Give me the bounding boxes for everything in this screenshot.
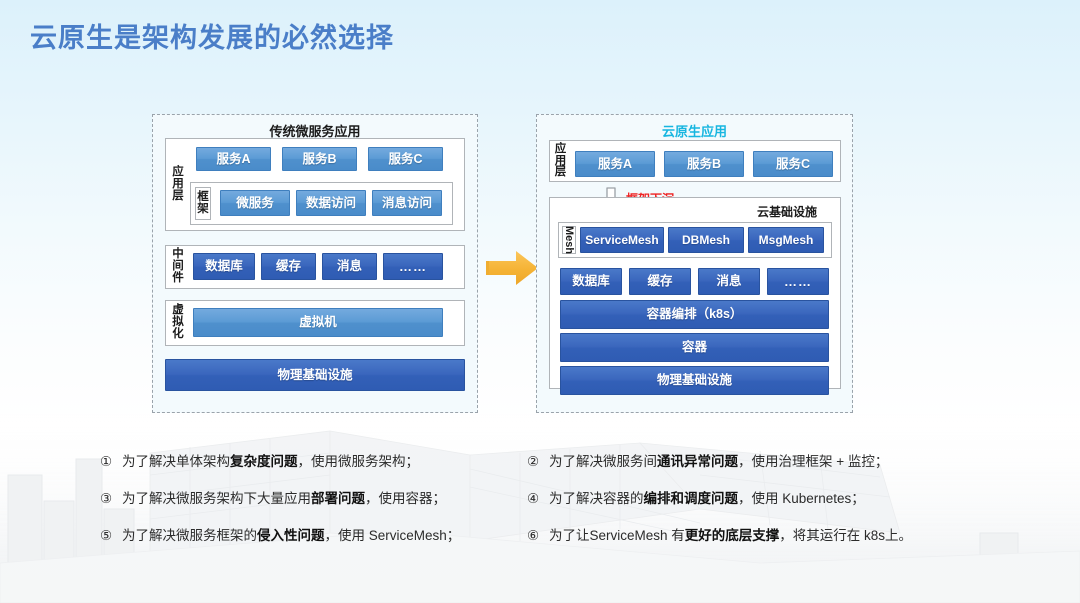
bullet-text-post: ，使用 Kubernetes；	[738, 491, 865, 506]
bullet-number: ③	[100, 491, 122, 507]
left-middleware-more[interactable]: ……	[383, 253, 443, 280]
bullet-number: ④	[527, 491, 549, 507]
right-app-layer-label: 应 用 层	[553, 145, 568, 178]
bullet-item: ④ 为了解决容器的编排和调度问题，使用 Kubernetes；	[527, 487, 987, 507]
left-service-c[interactable]: 服务C	[368, 147, 443, 171]
bullet-text-post: ，使用微服务架构；	[298, 454, 420, 469]
msg-mesh-block[interactable]: MsgMesh	[748, 227, 824, 253]
bullet-text-pre: 为了解决微服务架构下大量应用	[122, 491, 311, 506]
left-virtualization-label-char-3: 化	[172, 329, 184, 341]
right-physical-infrastructure[interactable]: 物理基础设施	[560, 366, 829, 395]
bullet-text: 为了解决容器的编排和调度问题，使用 Kubernetes；	[549, 487, 865, 507]
page-title: 云原生是架构发展的必然选择	[30, 16, 394, 55]
right-service-a[interactable]: 服务A	[575, 151, 655, 177]
left-framework-label-char-1: 框	[197, 192, 209, 204]
bullet-text-pre: 为了解决微服务间	[549, 454, 657, 469]
left-framework-message-access[interactable]: 消息访问	[372, 190, 442, 216]
left-virtual-machine[interactable]: 虚拟机	[193, 308, 443, 337]
bullet-text: 为了解决微服务间通讯异常问题，使用治理框架 + 监控；	[549, 450, 888, 470]
cloud-infra-label: 云基础设施	[757, 203, 817, 220]
bullet-item: ⑥ 为了让ServiceMesh 有更好的底层支撑，将其运行在 k8s上。	[527, 524, 987, 544]
bullet-text-bold: 通讯异常问题	[657, 454, 738, 469]
left-app-layer-label-char-3: 层	[172, 191, 184, 203]
bullet-text-bold: 部署问题	[311, 491, 365, 506]
right-middleware-message[interactable]: 消息	[698, 268, 760, 295]
bullet-number: ①	[100, 454, 122, 470]
bullet-text-post: ，将其运行在 k8s上。	[779, 528, 912, 543]
bullet-text-bold: 复杂度问题	[230, 454, 298, 469]
right-middleware-database[interactable]: 数据库	[560, 268, 622, 295]
bullet-number: ⑤	[100, 528, 122, 544]
bullet-text-pre: 为了解决容器的	[549, 491, 644, 506]
bullet-text-bold: 编排和调度问题	[644, 491, 739, 506]
left-service-b[interactable]: 服务B	[282, 147, 357, 171]
left-framework-microservice[interactable]: 微服务	[220, 190, 290, 216]
bullet-text-pre: 为了解决微服务框架的	[122, 528, 257, 543]
bullet-text-post: ，使用治理框架 + 监控；	[738, 454, 888, 469]
bullet-item: ② 为了解决微服务间通讯异常问题，使用治理框架 + 监控；	[527, 450, 987, 470]
left-middleware-message[interactable]: 消息	[322, 253, 377, 280]
bullet-text-bold: 更好的底层支撑	[685, 528, 780, 543]
bullet-number: ⑥	[527, 528, 549, 544]
bullet-text-post: ，使用容器；	[365, 491, 446, 506]
container-orchestration-k8s[interactable]: 容器编排（k8s）	[560, 300, 829, 329]
left-middleware-cache[interactable]: 缓存	[261, 253, 316, 280]
bullet-text: 为了解决微服务框架的侵入性问题，使用 ServiceMesh；	[122, 524, 460, 544]
right-middleware-cache[interactable]: 缓存	[629, 268, 691, 295]
bullet-number: ②	[527, 454, 549, 470]
right-app-layer-label-char-1: 应	[555, 144, 567, 156]
right-middleware-more[interactable]: ……	[767, 268, 829, 295]
left-framework-label-char-2: 架	[197, 204, 209, 216]
right-panel-title: 云原生应用	[537, 121, 852, 140]
bullet-text-post: ，使用 ServiceMesh；	[325, 528, 461, 543]
left-middleware-label: 中 间 件	[170, 250, 186, 284]
left-middleware-label-char-3: 件	[172, 273, 184, 285]
right-service-c[interactable]: 服务C	[753, 151, 833, 177]
left-service-a[interactable]: 服务A	[196, 147, 271, 171]
bullet-text: 为了解决单体架构复杂度问题，使用微服务架构；	[122, 450, 419, 470]
container-block[interactable]: 容器	[560, 333, 829, 362]
left-virtualization-label: 虚 拟 化	[170, 305, 186, 341]
service-mesh-block[interactable]: ServiceMesh	[580, 227, 664, 253]
bullet-text: 为了让ServiceMesh 有更好的底层支撑，将其运行在 k8s上。	[549, 524, 912, 544]
left-middleware-database[interactable]: 数据库	[193, 253, 255, 280]
bullets-right-column: ② 为了解决微服务间通讯异常问题，使用治理框架 + 监控； ④ 为了解决容器的编…	[527, 450, 987, 561]
bullet-item: ⑤ 为了解决微服务框架的侵入性问题，使用 ServiceMesh；	[100, 524, 530, 544]
left-app-layer-label: 应 用 层	[170, 150, 186, 220]
bullet-text-pre: 为了解决单体架构	[122, 454, 230, 469]
bullet-text-pre: 为了让ServiceMesh 有	[549, 528, 685, 543]
bullet-text-bold: 侵入性问题	[257, 528, 325, 543]
bullet-text: 为了解决微服务架构下大量应用部署问题，使用容器；	[122, 487, 446, 507]
bullet-item: ① 为了解决单体架构复杂度问题，使用微服务架构；	[100, 450, 530, 470]
mesh-label: Mesh	[562, 226, 576, 254]
arrow-right-icon	[486, 248, 540, 288]
left-framework-label: 框 架	[195, 187, 211, 220]
bullets-left-column: ① 为了解决单体架构复杂度问题，使用微服务架构； ③ 为了解决微服务架构下大量应…	[100, 450, 530, 561]
bullet-item: ③ 为了解决微服务架构下大量应用部署问题，使用容器；	[100, 487, 530, 507]
db-mesh-block[interactable]: DBMesh	[668, 227, 744, 253]
right-service-b[interactable]: 服务B	[664, 151, 744, 177]
right-app-layer-label-char-3: 层	[555, 167, 567, 179]
left-physical-infrastructure[interactable]: 物理基础设施	[165, 359, 465, 391]
left-framework-data-access[interactable]: 数据访问	[296, 190, 366, 216]
